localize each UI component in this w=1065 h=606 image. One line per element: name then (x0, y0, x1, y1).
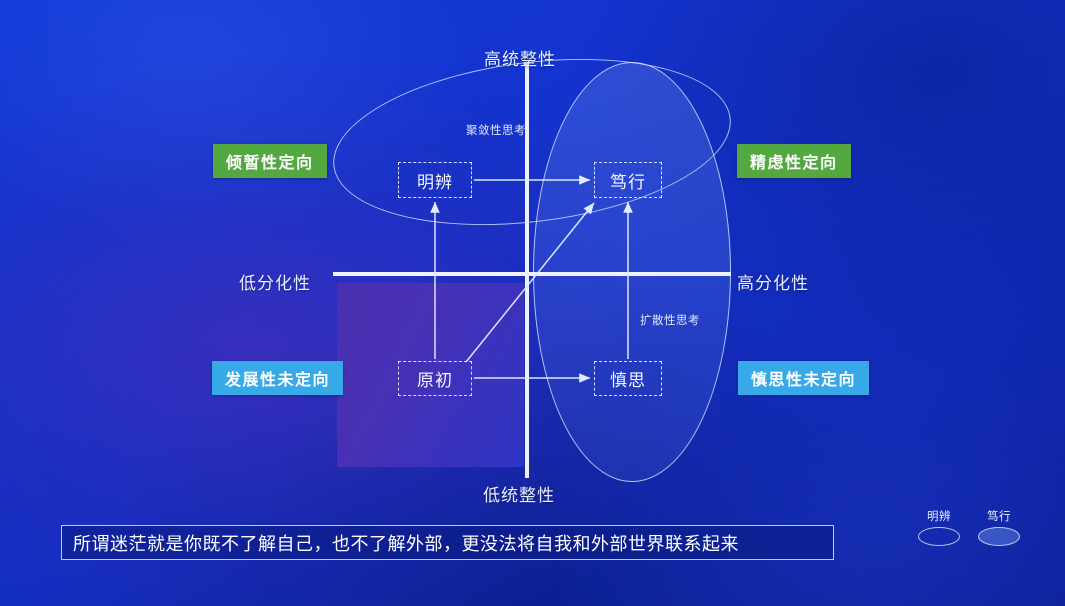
tag-bottom-left: 发展性未定向 (212, 361, 343, 395)
ellipse-filled-icon (978, 527, 1020, 546)
axis-label-left: 低分化性 (239, 269, 311, 294)
convergent-thinking-label: 聚敛性思考 (466, 122, 526, 138)
ellipse-outline-icon (918, 527, 960, 546)
legend-label-duxing: 笃行 (978, 508, 1020, 524)
tag-bottom-right: 慎思性未定向 (738, 361, 869, 395)
divergent-thinking-label: 扩散性思考 (640, 312, 700, 328)
axis-label-right: 高分化性 (737, 269, 809, 294)
legend-item-duxing: 笃行 (978, 508, 1020, 546)
node-duxing[interactable]: 笃行 (594, 162, 662, 198)
legend-item-mingbian: 明辨 (918, 508, 960, 546)
caption-bar: 所谓迷茫就是你既不了解自己，也不了解外部，更没法将自我和外部世界联系起来 (61, 525, 834, 560)
horizontal-axis (333, 272, 731, 276)
node-yuanchu[interactable]: 原初 (398, 361, 472, 396)
axis-label-top: 高统整性 (484, 45, 556, 70)
node-mingbian[interactable]: 明辨 (398, 162, 472, 198)
axis-label-bottom: 低统整性 (483, 481, 555, 506)
caption-text: 所谓迷茫就是你既不了解自己，也不了解外部，更没法将自我和外部世界联系起来 (73, 530, 739, 556)
legend-label-mingbian: 明辨 (918, 508, 960, 524)
slide-canvas: 高统整性 低统整性 低分化性 高分化性 聚敛性思考 扩散性思考 明辨 笃行 原初… (0, 0, 1065, 606)
legend: 明辨 笃行 (918, 508, 1038, 556)
tag-top-left: 倾暂性定向 (213, 144, 327, 178)
node-shensi[interactable]: 慎思 (594, 361, 662, 396)
tag-top-right: 精虑性定向 (737, 144, 851, 178)
